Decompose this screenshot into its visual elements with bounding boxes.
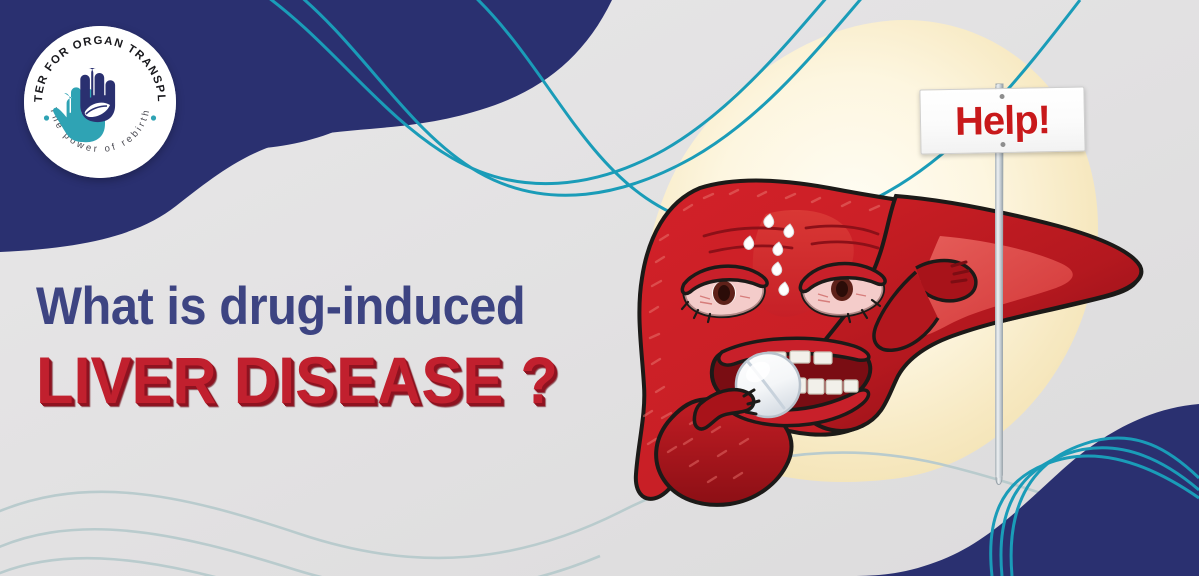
- help-sign-label: Help!: [955, 100, 1051, 142]
- sign-screw-top: [999, 94, 1004, 99]
- sign-screw-bottom: [1000, 142, 1005, 147]
- sign-pole: [0, 0, 1199, 576]
- help-sign: Help!: [919, 86, 1085, 154]
- banner-root: Help! CENTER FOR ORGAN TRANSPLANT The po…: [0, 0, 1199, 576]
